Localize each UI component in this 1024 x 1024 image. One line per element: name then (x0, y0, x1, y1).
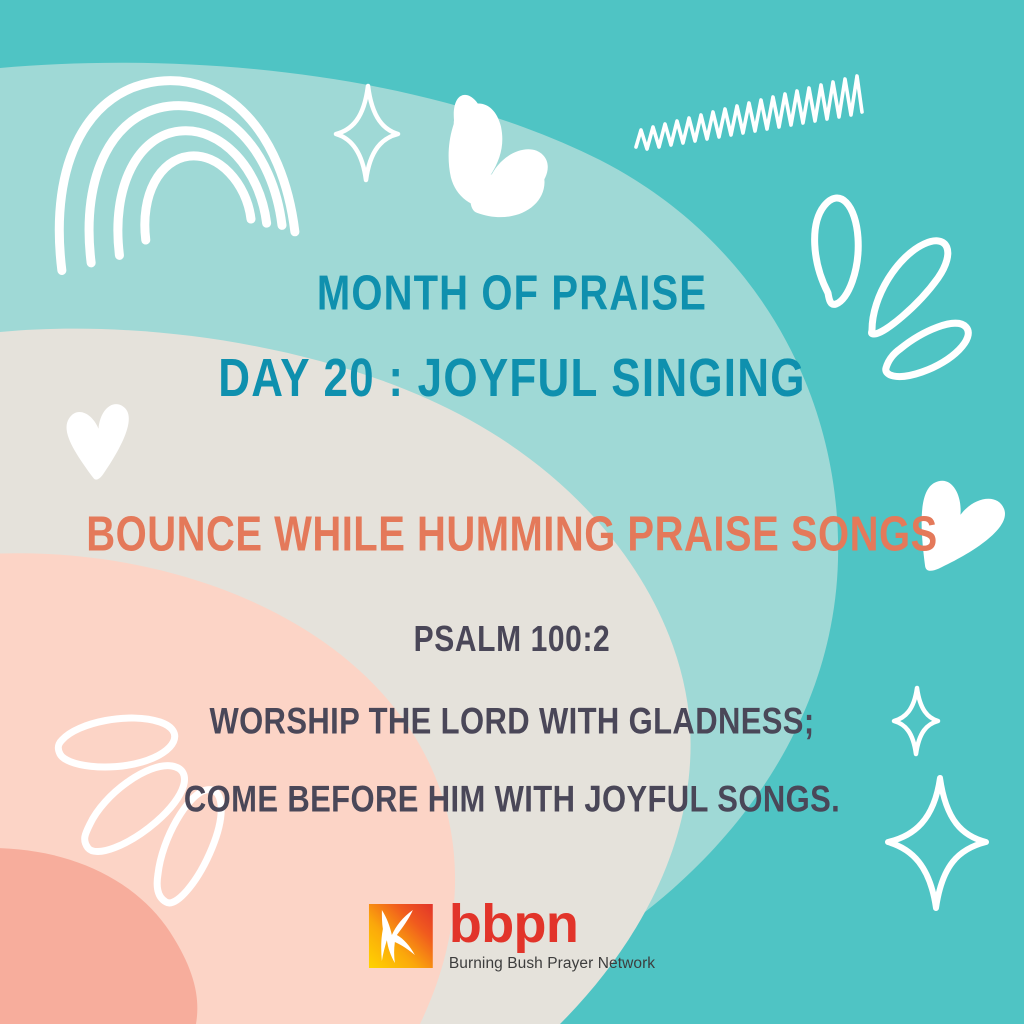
series-title: MONTH OF PRAISE (0, 268, 1024, 320)
day-title: DAY 20 : JOYFUL SINGING (0, 351, 1024, 408)
poster-content: MONTH OF PRAISE DAY 20 : JOYFUL SINGING … (0, 0, 1024, 1024)
bbpn-logo: bbpn Burning Bush Prayer Network (369, 900, 655, 973)
praise-poster: MONTH OF PRAISE DAY 20 : JOYFUL SINGING … (0, 0, 1024, 1024)
activity-prompt: BOUNCE WHILE HUMMING PRAISE SONGS (0, 508, 1024, 563)
scripture-line-2: COME BEFORE HIM WITH JOYFUL SONGS. (0, 778, 1024, 821)
scripture-block: PSALM 100:2 WORSHIP THE LORD WITH GLADNE… (0, 620, 1024, 814)
logo-tagline: Burning Bush Prayer Network (449, 955, 655, 973)
logo-text-group: bbpn Burning Bush Prayer Network (449, 900, 655, 973)
scripture-reference: PSALM 100:2 (0, 620, 1024, 661)
scripture-line-1: WORSHIP THE LORD WITH GLADNESS; (0, 700, 1024, 743)
burning-bush-icon (369, 904, 433, 968)
logo-wordmark: bbpn (449, 900, 578, 950)
